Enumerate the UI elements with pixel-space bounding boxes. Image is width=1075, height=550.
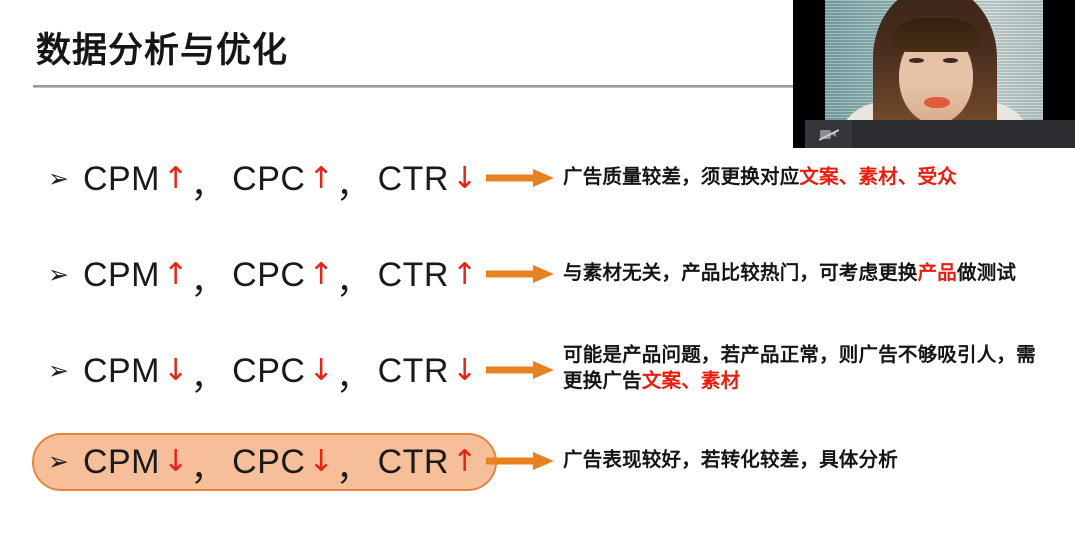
metric-label-cpc: CPC	[232, 352, 305, 391]
trend-icon-cpc: ↓	[308, 444, 334, 479]
metric-separator: ，	[336, 254, 371, 303]
metric-group-1[interactable]: ➢ CPM↑，CPC↑，CTR↓	[32, 150, 497, 208]
metric-label-cpm: CPM	[83, 160, 160, 199]
metric-separator: ，	[336, 441, 371, 490]
trend-icon-cpm: ↓	[163, 353, 189, 388]
metric-separator: ，	[191, 441, 226, 490]
metric-group-2[interactable]: ➢ CPM↑，CPC↑，CTR↑	[32, 246, 497, 304]
trend-icon-cpc: ↑	[308, 257, 334, 292]
metric-label-ctr: CTR	[378, 160, 449, 199]
metric-expression-3: CPM↓，CPC↓，CTR↓	[83, 347, 479, 396]
metric-label-cpm: CPM	[83, 352, 160, 391]
trend-icon-ctr: ↓	[452, 161, 478, 196]
title-divider	[33, 85, 793, 88]
metric-label-cpm: CPM	[83, 256, 160, 295]
metric-label-ctr: CTR	[378, 352, 449, 391]
bullet-arrow-icon: ➢	[48, 449, 69, 474]
participant-eye-right	[943, 58, 958, 63]
right-arrow-icon-1	[486, 167, 554, 189]
conclusion-text-2: 与素材无关，产品比较热门，可考虑更换产品做测试	[563, 260, 1068, 286]
metric-group-3[interactable]: ➢ CPM↓，CPC↓，CTR↓	[32, 342, 497, 400]
metric-label-ctr: CTR	[378, 443, 449, 482]
metric-separator: ，	[191, 254, 226, 303]
bullet-arrow-icon: ➢	[48, 166, 69, 191]
participant-mouth	[924, 97, 950, 108]
trend-icon-cpm: ↑	[163, 257, 189, 292]
metric-separator: ，	[191, 158, 226, 207]
metric-label-cpc: CPC	[232, 443, 305, 482]
metric-label-cpc: CPC	[232, 160, 305, 199]
metric-label-cpc: CPC	[232, 256, 305, 295]
participant-eye-left	[909, 58, 924, 63]
trend-icon-cpm: ↑	[163, 161, 189, 196]
right-arrow-icon-3	[486, 359, 554, 381]
metric-separator: ，	[336, 158, 371, 207]
trend-icon-ctr: ↑	[452, 257, 478, 292]
metric-label-cpm: CPM	[83, 443, 160, 482]
conclusion-emphasis-3: 文案、素材	[642, 369, 741, 392]
metric-group-4-highlighted[interactable]: ➢ CPM↓，CPC↓，CTR↑	[32, 433, 497, 491]
trend-icon-ctr: ↑	[452, 444, 478, 479]
conclusion-emphasis-2: 产品	[918, 261, 957, 284]
conclusion-text-4: 广告表现较好，若转化较差，具体分析	[563, 447, 1068, 473]
conclusion-plain-2a: 与素材无关，产品比较热门，可考虑更换	[563, 261, 918, 284]
camera-off-icon	[820, 129, 837, 140]
bullet-arrow-icon: ➢	[48, 358, 69, 383]
conclusion-plain-2b: 做测试	[957, 261, 1016, 284]
conclusion-plain-1: 广告质量较差，须更换对应	[563, 165, 799, 188]
metric-separator: ，	[336, 350, 371, 399]
right-arrow-icon-2	[486, 263, 554, 285]
metric-label-ctr: CTR	[378, 256, 449, 295]
conclusion-emphasis-1: 文案、素材、受众	[799, 165, 957, 188]
conclusion-plain-4: 广告表现较好，若转化较差，具体分析	[563, 448, 898, 471]
conclusion-text-1: 广告质量较差，须更换对应文案、素材、受众	[563, 164, 1068, 190]
conclusion-text-3: 可能是产品问题，若产品正常，则广告不够吸引人，需更换广告文案、素材	[563, 342, 1048, 394]
page-title: 数据分析与优化	[36, 22, 288, 73]
trend-icon-cpc: ↓	[308, 353, 334, 388]
metric-expression-2: CPM↑，CPC↑，CTR↑	[83, 251, 479, 300]
conclusion-plain-3: 可能是产品问题，若产品正常，则广告不够吸引人，需更换广告	[563, 343, 1036, 392]
camera-off-button[interactable]	[805, 120, 852, 148]
trend-icon-cpm: ↓	[163, 444, 189, 479]
bullet-arrow-icon: ➢	[48, 262, 69, 287]
metric-expression-1: CPM↑，CPC↑，CTR↓	[83, 155, 479, 204]
trend-icon-cpc: ↑	[308, 161, 334, 196]
participant-bangs	[891, 18, 981, 52]
metric-expression-4: CPM↓，CPC↓，CTR↑	[83, 438, 479, 487]
right-arrow-icon-4	[486, 450, 554, 472]
metric-separator: ，	[191, 350, 226, 399]
trend-icon-ctr: ↓	[452, 353, 478, 388]
